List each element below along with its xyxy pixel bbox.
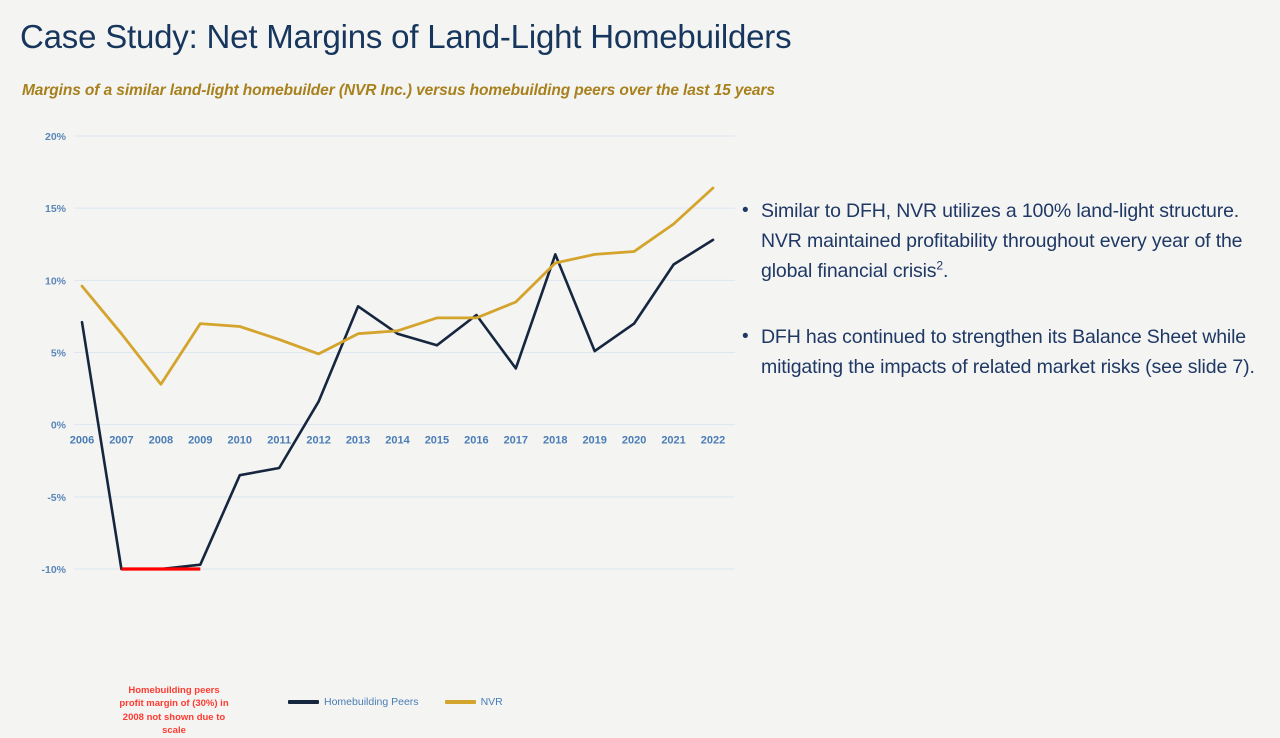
list-item: • DFH has continued to strengthen its Ba… <box>742 322 1270 382</box>
x-axis-tick-label: 2012 <box>306 435 330 447</box>
y-axis-tick-label: 20% <box>45 131 67 143</box>
bullet-text-1-tail: . <box>943 260 948 282</box>
x-axis-tick-label: 2010 <box>228 435 252 447</box>
y-axis-tick-label: 5% <box>51 348 67 360</box>
list-item: • Similar to DFH, NVR utilizes a 100% la… <box>742 196 1270 286</box>
x-axis-tick-label: 2020 <box>622 435 646 447</box>
legend-label-nvr: NVR <box>481 696 503 708</box>
x-axis-tick-label: 2006 <box>70 435 94 447</box>
y-axis-tick-label: 0% <box>51 420 67 432</box>
x-axis-tick-label: 2019 <box>582 435 606 447</box>
x-axis-tick-label: 2018 <box>543 435 567 447</box>
x-axis-tick-label: 2017 <box>504 435 528 447</box>
y-axis-tick-label: 15% <box>45 203 67 215</box>
bullet-text-1-main: Similar to DFH, NVR utilizes a 100% land… <box>761 200 1242 282</box>
legend-swatch-icon-peers <box>288 700 319 703</box>
x-axis-tick-label: 2008 <box>149 435 173 447</box>
x-axis-tick-label: 2015 <box>425 435 449 447</box>
legend-swatch-icon-nvr <box>445 700 476 703</box>
x-axis-tick-label: 2009 <box>188 435 212 447</box>
x-axis-tick-label: 2016 <box>464 435 488 447</box>
x-axis-tick-label: 2021 <box>661 435 685 447</box>
x-axis-tick-label: 2013 <box>346 435 370 447</box>
bullet-text-1: Similar to DFH, NVR utilizes a 100% land… <box>761 196 1270 286</box>
chart-gridlines <box>74 136 735 569</box>
slide-root: Case Study: Net Margins of Land-Light Ho… <box>0 0 1280 655</box>
x-axis-tick-label: 2011 <box>267 435 291 447</box>
bullet-text-2: DFH has continued to strengthen its Bala… <box>761 322 1270 382</box>
chart-x-tick-labels: 2006200720082009201020112012201320142015… <box>70 435 725 447</box>
chart-canvas: 20%15%10%5%0%-5%-10% 2006200720082009201… <box>0 110 745 655</box>
series-line-nvr <box>82 188 713 384</box>
series-line-homebuilding-peers <box>82 240 713 569</box>
footnote-reference-1: 2 <box>936 259 943 273</box>
chart-annotation: Homebuilding peers profit margin of (30%… <box>118 684 230 738</box>
bullet-marker-icon: • <box>742 322 761 352</box>
commentary-list: • Similar to DFH, NVR utilizes a 100% la… <box>742 196 1270 418</box>
page-subtitle: Margins of a similar land-light homebuil… <box>22 82 775 100</box>
x-axis-tick-label: 2014 <box>385 435 410 447</box>
legend-label-peers: Homebuilding Peers <box>324 696 419 708</box>
chart-legend: Homebuilding Peers NVR <box>288 696 503 708</box>
bullet-marker-icon: • <box>742 196 761 226</box>
y-axis-tick-label: -10% <box>41 564 66 576</box>
x-axis-tick-label: 2022 <box>701 435 725 447</box>
legend-item-peers[interactable]: Homebuilding Peers <box>288 696 419 708</box>
legend-item-nvr[interactable]: NVR <box>445 696 503 708</box>
line-chart: 20%15%10%5%0%-5%-10% 2006200720082009201… <box>0 110 745 655</box>
chart-y-tick-labels: 20%15%10%5%0%-5%-10% <box>41 131 66 576</box>
x-axis-tick-label: 2007 <box>109 435 133 447</box>
bullet-text-2-main: DFH has continued to strengthen its Bala… <box>761 326 1255 378</box>
y-axis-tick-label: -5% <box>47 492 66 504</box>
page-title: Case Study: Net Margins of Land-Light Ho… <box>20 18 791 56</box>
y-axis-tick-label: 10% <box>45 275 67 287</box>
